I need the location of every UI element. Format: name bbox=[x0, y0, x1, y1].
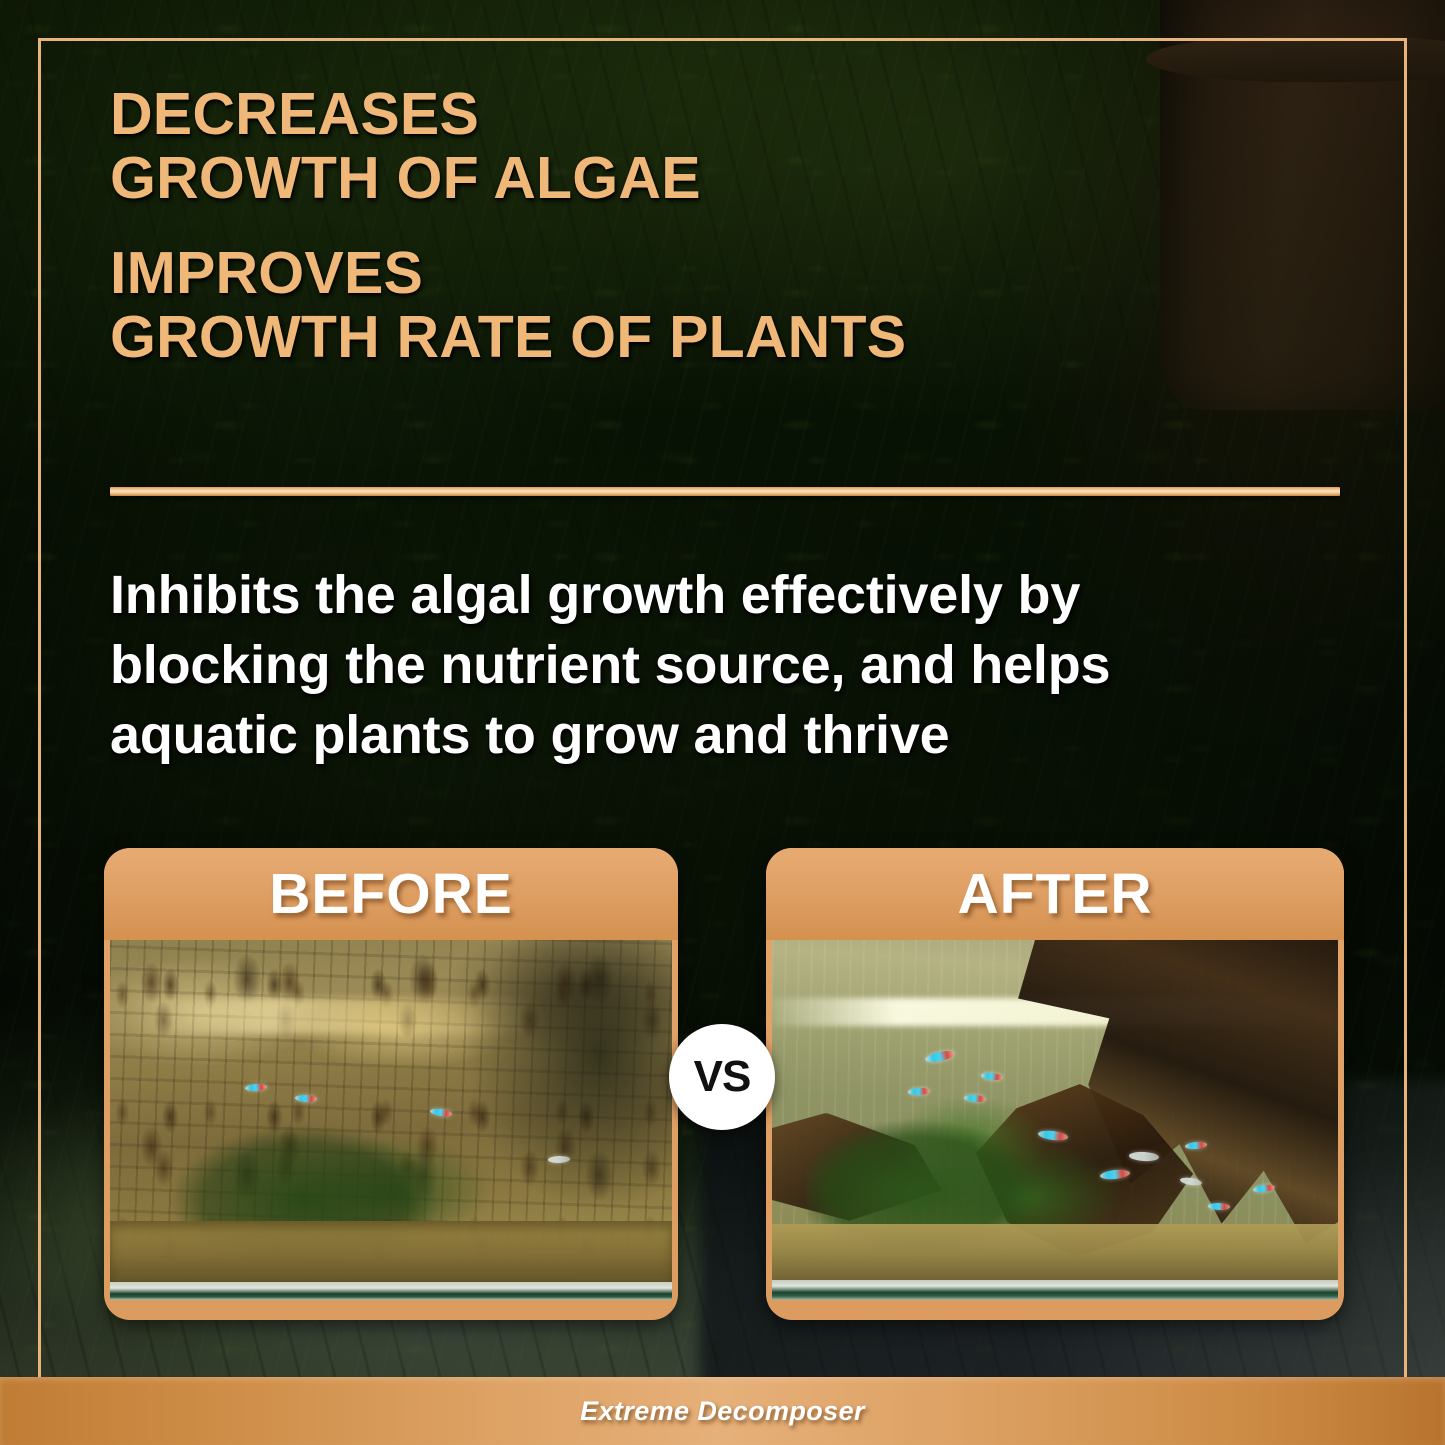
headline-group-plants: IMPROVES GROWTH RATE OF PLANTS bbox=[110, 241, 1110, 370]
headline-line-4: GROWTH RATE OF PLANTS bbox=[110, 305, 1110, 369]
headline-block: DECREASES GROWTH OF ALGAE IMPROVES GROWT… bbox=[110, 82, 1110, 369]
body-line-3: aquatic plants to grow and thrive bbox=[110, 700, 1350, 770]
before-label: BEFORE bbox=[269, 861, 513, 927]
after-comparison-card: AFTER bbox=[766, 848, 1344, 1320]
vs-badge: VS bbox=[669, 1024, 775, 1130]
after-substrate bbox=[772, 1224, 1338, 1282]
before-aquarium-photo bbox=[110, 940, 672, 1300]
headline-line-1: DECREASES bbox=[110, 82, 1110, 146]
body-description: Inhibits the algal growth effectively by… bbox=[110, 560, 1350, 771]
after-fish-11 bbox=[1208, 1202, 1230, 1210]
before-tank-rim bbox=[110, 1282, 672, 1300]
after-tank-rim bbox=[772, 1280, 1338, 1300]
body-line-2: blocking the nutrient source, and helps bbox=[110, 630, 1350, 700]
product-infographic-poster: DECREASES GROWTH OF ALGAE IMPROVES GROWT… bbox=[0, 0, 1445, 1445]
after-card-header: AFTER bbox=[766, 848, 1344, 940]
body-line-1: Inhibits the algal growth effectively by bbox=[110, 560, 1350, 630]
footer-brand-bar: Extreme Decomposer bbox=[0, 1377, 1445, 1445]
before-card-header: BEFORE bbox=[104, 848, 678, 940]
headline-line-2: GROWTH OF ALGAE bbox=[110, 146, 1110, 210]
headline-group-algae: DECREASES GROWTH OF ALGAE bbox=[110, 82, 1110, 211]
brand-name: Extreme Decomposer bbox=[580, 1396, 865, 1427]
section-divider bbox=[110, 487, 1340, 496]
after-label: AFTER bbox=[958, 861, 1153, 927]
before-substrate bbox=[110, 1221, 672, 1286]
before-light-reflection bbox=[132, 998, 537, 1034]
vs-label: VS bbox=[694, 1052, 751, 1102]
headline-line-3: IMPROVES bbox=[110, 241, 1110, 305]
after-aquarium-photo bbox=[772, 940, 1338, 1300]
before-comparison-card: BEFORE bbox=[104, 848, 678, 1320]
